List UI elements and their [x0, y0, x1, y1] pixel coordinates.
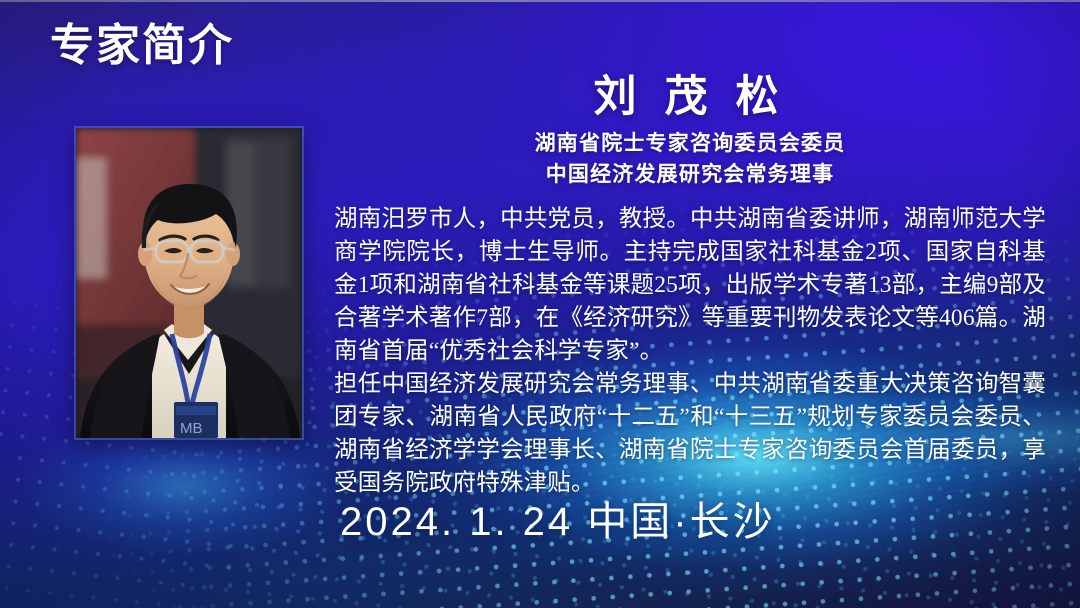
- speaker-name: 刘 茂 松: [340, 62, 1040, 124]
- bio-paragraph: 担任中国经济发展研究会常务理事、中共湖南省委重大决策咨询智囊团专家、湖南省人民政…: [334, 368, 1046, 500]
- svg-text:MB: MB: [180, 420, 203, 437]
- portrait-photo: MB: [76, 128, 302, 438]
- portrait-illustration: MB: [76, 128, 302, 438]
- speaker-title-line: 中国经济发展研究会常务理事: [340, 159, 1040, 190]
- slide-canvas: 专家简介: [0, 0, 1080, 608]
- speaker-titles: 湖南省院士专家咨询委员会委员 中国经济发展研究会常务理事: [340, 128, 1040, 190]
- speaker-biography: 湖南汨罗市人，中共党员，教授。中共湖南省委讲师，湖南师范大学商学院院长，博士生导…: [334, 203, 1046, 500]
- top-edge-line: [0, 0, 1080, 2]
- page-title: 专家简介: [50, 22, 234, 70]
- speaker-title-line: 湖南省院士专家咨询委员会委员: [340, 128, 1040, 159]
- event-date-location: 2024. 1. 24 中国·长沙: [340, 489, 776, 547]
- bio-paragraph: 湖南汨罗市人，中共党员，教授。中共湖南省委讲师，湖南师范大学商学院院长，博士生导…: [334, 203, 1046, 368]
